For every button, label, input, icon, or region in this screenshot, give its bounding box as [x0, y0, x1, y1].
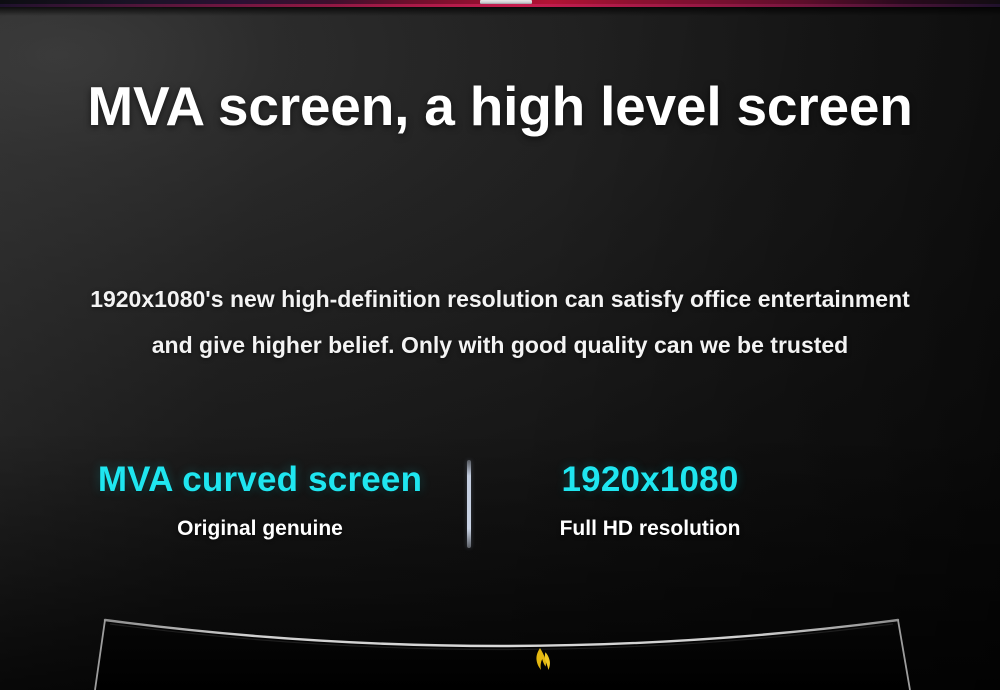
- feature-subtitle: Full HD resolution: [500, 516, 800, 542]
- description-line-2: and give higher belief. Only with good q…: [0, 322, 1000, 368]
- page-title: MVA screen, a high level screen: [0, 74, 1000, 139]
- feature-subtitle: Original genuine: [60, 516, 460, 542]
- product-banner: MVA screen, a high level screen 1920x108…: [0, 0, 1000, 690]
- feature-item-mva-curved-screen: MVA curved screen Original genuine: [60, 458, 460, 542]
- feature-highlights: MVA curved screen Original genuine 1920x…: [0, 458, 1000, 558]
- feature-title: MVA curved screen: [60, 458, 460, 502]
- feature-title: 1920x1080: [500, 458, 800, 502]
- feature-divider: [467, 460, 471, 548]
- image-edge-shadow: [0, 7, 1000, 16]
- feature-item-resolution: 1920x1080 Full HD resolution: [500, 458, 800, 542]
- description-paragraph: 1920x1080's new high-definition resoluti…: [0, 276, 1000, 368]
- image-edge-highlight: [480, 0, 532, 4]
- image-edge-strip: [0, 0, 1000, 7]
- description-line-1: 1920x1080's new high-definition resoluti…: [0, 276, 1000, 322]
- monitor-screen: [95, 620, 910, 690]
- curved-monitor-top: [0, 580, 1000, 690]
